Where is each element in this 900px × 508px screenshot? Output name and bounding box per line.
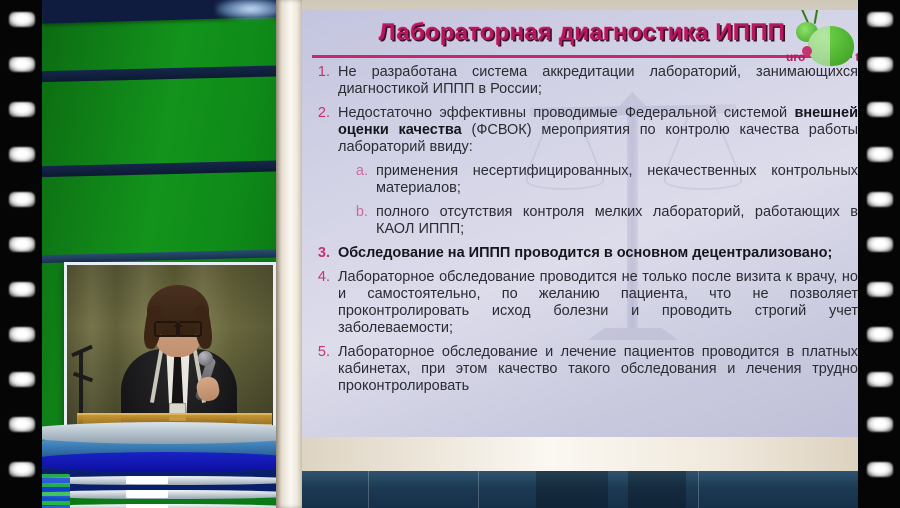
studio-desk <box>42 418 290 508</box>
title-underline-rule <box>312 55 852 58</box>
desk-highlight-1 <box>126 476 168 484</box>
bug-antenna-right-icon <box>814 10 819 24</box>
film-perforation <box>9 12 35 27</box>
bullet-item: 3.Обследование на ИППП проводится в осно… <box>312 245 858 262</box>
film-strip-right <box>858 0 900 508</box>
slide-bullet-list: 1.Не разработана система аккредитации ла… <box>312 64 858 402</box>
speaker-inset-frame <box>64 262 276 444</box>
bullet-text: Лабораторное обследование проводится не … <box>338 269 858 337</box>
bullet-item: 1.Не разработана система аккредитации ла… <box>312 64 858 98</box>
speaker-video-pane <box>42 0 290 508</box>
bullet-number: 5. <box>312 344 338 395</box>
bullet-emphasis: внешней оценки качества <box>338 105 858 138</box>
bug-wing-highlight-icon <box>808 26 854 66</box>
film-perforation <box>9 327 35 342</box>
bullet-item: 5.Лабораторное обследование и лечение па… <box>312 344 858 395</box>
film-perforation <box>867 237 893 252</box>
bullet-item: 4.Лабораторное обследование проводится н… <box>312 269 858 337</box>
slide-title: Лабораторная диагностика ИППП <box>379 19 785 47</box>
film-strip-left <box>0 0 42 508</box>
film-perforation <box>867 57 893 72</box>
pane-divider <box>276 0 302 508</box>
slide-bottom-strip <box>298 437 858 471</box>
bullet-text: Не разработана система аккредитации лабо… <box>338 64 858 98</box>
film-perforation <box>867 372 893 387</box>
bullet-text: Недостаточно эффективны проводимые Федер… <box>338 105 858 156</box>
film-perforation <box>867 327 893 342</box>
film-perforation <box>9 417 35 432</box>
bullet-number: 2. <box>312 105 338 156</box>
slide-canvas: Лабораторная диагностика ИППП uro tv 1.Н… <box>302 10 858 437</box>
bullet-text: Обследование на ИППП проводится в основн… <box>338 245 858 262</box>
bullet-item: b.полного отсутствия контроля мелких лаб… <box>350 204 858 238</box>
logo-text-left: uro <box>786 50 805 64</box>
film-perforation <box>867 102 893 117</box>
film-perforation <box>9 282 35 297</box>
desk-rim <box>42 422 290 444</box>
urotv-logo: uro tv <box>782 10 858 68</box>
screenshot-stage: Лабораторная диагностика ИППП uro tv 1.Н… <box>0 0 900 508</box>
eyeglasses-icon <box>153 321 203 333</box>
bullet-text: применения несертифицированных, некачест… <box>376 163 858 197</box>
microphone-head <box>198 351 213 366</box>
eyeglass-bridge <box>174 325 182 327</box>
desk-bottom-right <box>298 471 858 508</box>
film-perforation <box>9 57 35 72</box>
film-perforation <box>867 282 893 297</box>
film-perforation <box>9 102 35 117</box>
film-perforation <box>9 237 35 252</box>
film-perforation <box>867 192 893 207</box>
desk-seam-2 <box>478 471 479 508</box>
bullet-text: Лабораторное обследование и лечение паци… <box>338 344 858 395</box>
film-perforation <box>9 372 35 387</box>
film-perforation <box>9 192 35 207</box>
desk-seam-1 <box>368 471 369 508</box>
film-perforation <box>867 417 893 432</box>
slide-title-area: Лабораторная диагностика ИППП <box>302 10 858 55</box>
desk-shadow-1 <box>536 471 608 508</box>
bullet-number: 3. <box>312 245 338 262</box>
desk-highlight-2 <box>126 490 168 498</box>
film-perforation <box>9 147 35 162</box>
bullet-number: 4. <box>312 269 338 337</box>
bullet-item: a.применения несертифицированных, некаче… <box>350 163 858 197</box>
desk-graphic-stripes <box>42 474 70 508</box>
bullet-item: 2.Недостаточно эффективны проводимые Фед… <box>312 105 858 156</box>
film-perforation <box>9 462 35 477</box>
eyeglass-lens-left <box>154 321 178 337</box>
film-perforation <box>867 12 893 27</box>
bullet-number: a. <box>350 163 376 197</box>
desk-shadow-2 <box>628 471 686 508</box>
bullet-text: полного отсутствия контроля мелких лабор… <box>376 204 858 238</box>
film-perforation <box>867 462 893 477</box>
eyeglass-lens-right <box>178 321 202 337</box>
desk-blue-band <box>42 452 290 472</box>
film-perforation <box>867 147 893 162</box>
bullet-number: 1. <box>312 64 338 98</box>
desk-seam-3 <box>698 471 699 508</box>
bullet-number: b. <box>350 204 376 238</box>
desk-highlight-3 <box>126 504 168 508</box>
presentation-slide-pane: Лабораторная диагностика ИППП uro tv 1.Н… <box>298 0 858 508</box>
